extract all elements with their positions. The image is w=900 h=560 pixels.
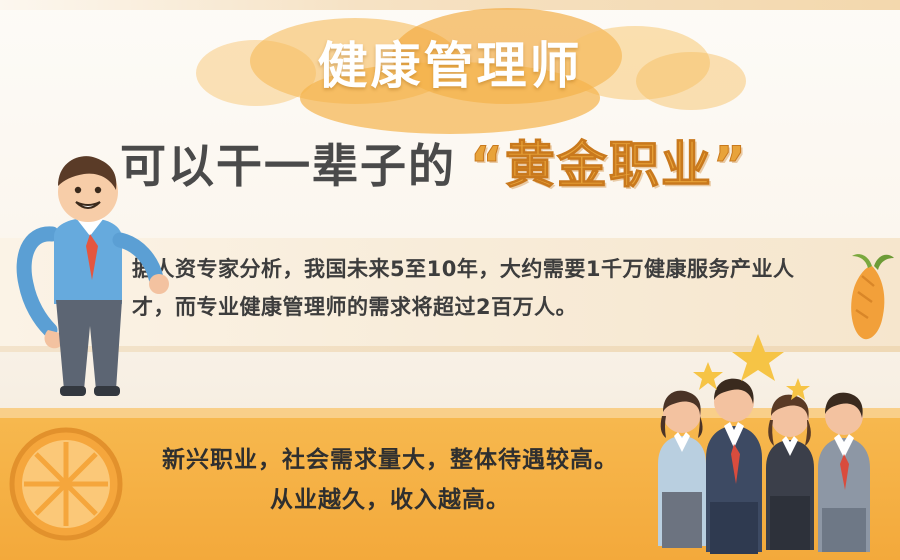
- carrot-illustration: [838, 250, 898, 345]
- standing-man-illustration: [10, 108, 170, 408]
- poster-title: 健康管理师: [0, 26, 900, 98]
- top-band-decoration: [0, 0, 900, 10]
- star-decoration: [690, 332, 810, 402]
- paragraph-text: 据人资专家分析，我国未来5至10年，大约需要1千万健康服务产业人才，而专业健康管…: [132, 250, 832, 326]
- orange-slice-illustration: [6, 424, 126, 546]
- bottom-line-1: 新兴职业，社会需求量大，整体待遇较高。: [162, 447, 618, 473]
- poster-subtitle: 可以干一辈子的 “黄金职业”: [120, 125, 880, 197]
- poster-canvas: 健康管理师 可以干一辈子的 “黄金职业” 据人资专家分析，我国未来5至10年，大…: [0, 0, 900, 560]
- subtitle-left-text: 可以干一辈子的: [120, 130, 456, 196]
- subtitle-highlight-text: “黄金职业”: [470, 125, 748, 197]
